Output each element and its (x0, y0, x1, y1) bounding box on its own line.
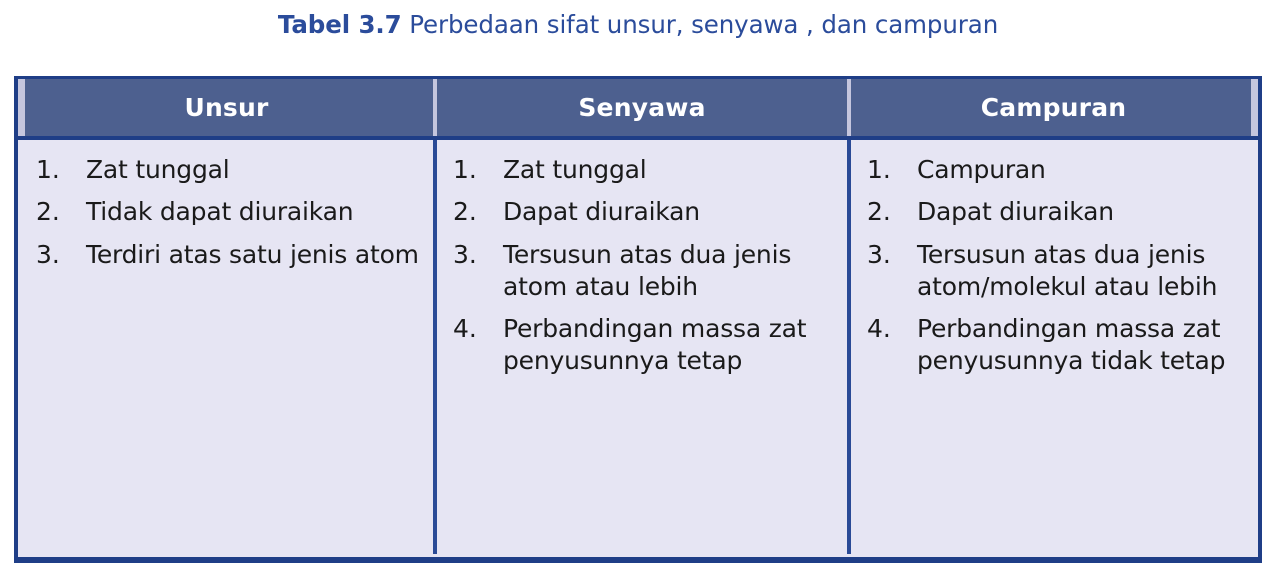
caption-label: Tabel 3.7 (278, 10, 402, 39)
unsur-list: 1. Zat tunggal 2. Tidak dapat diuraikan … (36, 154, 427, 271)
list-item-text: Tersusun atas dua jenis atom/molekul ata… (917, 239, 1250, 304)
list-item-text: Dapat diuraikan (503, 196, 841, 228)
table-body-row: 1. Zat tunggal 2. Tidak dapat diuraikan … (18, 140, 1258, 554)
list-item: 2. Dapat diuraikan (453, 196, 841, 228)
list-item: 4. Perbandingan massa zat penyusunnya te… (453, 313, 841, 378)
list-item-number: 2. (453, 196, 503, 228)
list-item: 3. Terdiri atas satu jenis atom (36, 239, 427, 271)
list-item-text: Tersusun atas dua jenis atom atau lebih (503, 239, 841, 304)
table-cell-campuran: 1. Campuran 2. Dapat diuraikan 3. Tersus… (849, 140, 1258, 554)
list-item-number: 4. (867, 313, 917, 345)
table-header-row: Unsur Senyawa Campuran (18, 79, 1258, 140)
list-item-text: Perbandingan massa zat penyusunnya tetap (503, 313, 841, 378)
list-item-number: 1. (36, 154, 86, 186)
page-root: Tabel 3.7 Perbedaan sifat unsur, senyawa… (0, 0, 1276, 579)
table-cell-unsur: 1. Zat tunggal 2. Tidak dapat diuraikan … (18, 140, 435, 554)
list-item-number: 2. (867, 196, 917, 228)
list-item-text: Perbandingan massa zat penyusunnya tidak… (917, 313, 1250, 378)
column-header-unsur: Unsur (18, 79, 435, 136)
list-item-text: Tidak dapat diuraikan (86, 196, 427, 228)
list-item-text: Campuran (917, 154, 1250, 186)
list-item-text: Zat tunggal (503, 154, 841, 186)
list-item-number: 3. (453, 239, 503, 271)
list-item: 2. Tidak dapat diuraikan (36, 196, 427, 228)
list-item-text: Dapat diuraikan (917, 196, 1250, 228)
list-item-number: 2. (36, 196, 86, 228)
column-header-senyawa-label: Senyawa (578, 93, 705, 122)
caption-text: Perbedaan sifat unsur, senyawa , dan cam… (402, 10, 999, 39)
list-item-number: 3. (36, 239, 86, 271)
list-item-text: Terdiri atas satu jenis atom (86, 239, 427, 271)
list-item: 1. Zat tunggal (453, 154, 841, 186)
campuran-list: 1. Campuran 2. Dapat diuraikan 3. Tersus… (867, 154, 1250, 378)
column-header-campuran-label: Campuran (981, 93, 1127, 122)
list-item-number: 1. (453, 154, 503, 186)
table-caption: Tabel 3.7 Perbedaan sifat unsur, senyawa… (0, 10, 1276, 39)
column-header-senyawa: Senyawa (435, 79, 849, 136)
list-item: 3. Tersusun atas dua jenis atom/molekul … (867, 239, 1250, 304)
list-item: 1. Zat tunggal (36, 154, 427, 186)
list-item-number: 4. (453, 313, 503, 345)
list-item: 1. Campuran (867, 154, 1250, 186)
list-item-number: 1. (867, 154, 917, 186)
column-header-campuran: Campuran (849, 79, 1258, 136)
list-item: 3. Tersusun atas dua jenis atom atau leb… (453, 239, 841, 304)
column-header-unsur-label: Unsur (184, 93, 268, 122)
senyawa-list: 1. Zat tunggal 2. Dapat diuraikan 3. Ter… (453, 154, 841, 378)
comparison-table: Unsur Senyawa Campuran 1. Zat tunggal 2. (14, 76, 1262, 563)
list-item-text: Zat tunggal (86, 154, 427, 186)
table-cell-senyawa: 1. Zat tunggal 2. Dapat diuraikan 3. Ter… (435, 140, 849, 554)
list-item: 4. Perbandingan massa zat penyusunnya ti… (867, 313, 1250, 378)
list-item: 2. Dapat diuraikan (867, 196, 1250, 228)
list-item-number: 3. (867, 239, 917, 271)
